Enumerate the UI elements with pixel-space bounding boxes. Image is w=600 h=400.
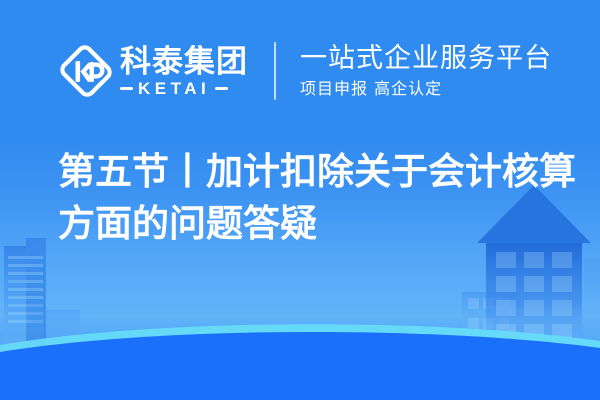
kp-diamond-logo-icon	[58, 43, 114, 99]
banner-header: 科泰集团 KETAI 一站式企业服务平台 项目申报 高企认定	[0, 28, 600, 114]
logo-dash-left-icon	[120, 87, 133, 90]
banner-title: 第五节丨加计扣除关于会计核算 方面的问题答疑	[58, 146, 558, 250]
promo-banner: 科泰集团 KETAI 一站式企业服务平台 项目申报 高企认定 第五节丨加计扣除关…	[0, 0, 600, 400]
logo-dash-right-icon	[215, 87, 228, 90]
tagline-sub: 项目申报 高企认定	[300, 78, 552, 100]
title-line-2: 方面的问题答疑	[58, 198, 558, 250]
brand-name-en: KETAI	[138, 80, 210, 98]
brand-name-en-row: KETAI	[120, 80, 248, 98]
brand-name-cn: 科泰集团	[120, 45, 248, 79]
brand-logo-block[interactable]: 科泰集团 KETAI	[58, 43, 248, 99]
title-line-1: 第五节丨加计扣除关于会计核算	[58, 146, 558, 198]
tagline-main: 一站式企业服务平台	[300, 42, 552, 75]
header-divider	[274, 42, 276, 100]
tagline-block: 一站式企业服务平台 项目申报 高企认定	[300, 42, 552, 100]
